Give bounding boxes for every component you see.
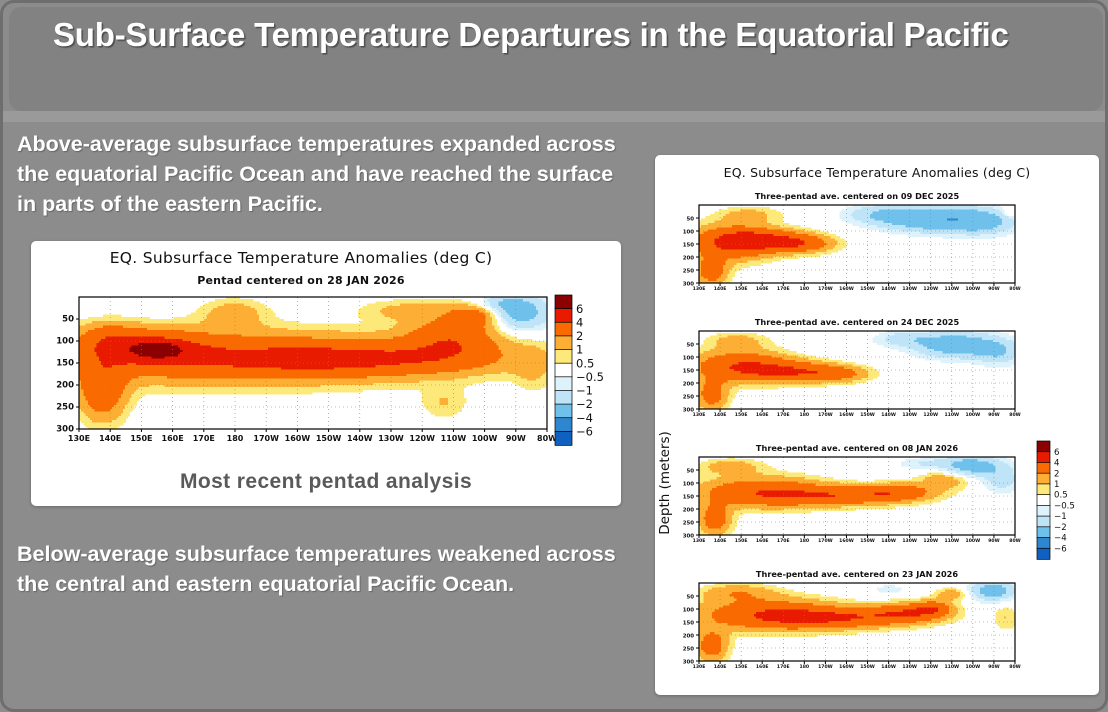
page-title: Sub-Surface Temperature Departures in th… <box>53 15 1033 55</box>
paragraph-above-average: Above-average subsurface temperatures ex… <box>17 129 617 219</box>
right-panel-subtitle-4: Three-pentad ave. centered on 23 JAN 202… <box>756 569 958 579</box>
left-chart-caption: Most recent pentad analysis <box>31 470 621 494</box>
title-bar: Sub-Surface Temperature Departures in th… <box>9 7 1103 111</box>
left-heatmap-plot: 50100150200250300130E140E150E160E170E180… <box>31 289 621 479</box>
right-y-axis-label: Depth (meters) <box>657 431 673 535</box>
paragraph-below-average: Below-average subsurface temperatures we… <box>17 539 617 599</box>
right-chart-card: EQ. Subsurface Temperature Anomalies (de… <box>655 155 1099 695</box>
left-chart-title: EQ. Subsurface Temperature Anomalies (de… <box>31 249 571 267</box>
left-chart-card: EQ. Subsurface Temperature Anomalies (de… <box>31 241 621 506</box>
slide: Sub-Surface Temperature Departures in th… <box>0 0 1108 712</box>
right-chart-title: EQ. Subsurface Temperature Anomalies (de… <box>655 165 1099 180</box>
right-heatmap-panels: Three-pentad ave. centered on 09 DEC 202… <box>655 183 1099 693</box>
right-panel-subtitle-1: Three-pentad ave. centered on 09 DEC 202… <box>755 191 960 201</box>
right-panel-subtitle-2: Three-pentad ave. centered on 24 DEC 202… <box>755 317 960 327</box>
left-chart-subtitle: Pentad centered on 28 JAN 2026 <box>31 274 571 287</box>
right-panel-subtitle-3: Three-pentad ave. centered on 08 JAN 202… <box>756 443 958 453</box>
title-divider <box>3 111 1108 122</box>
